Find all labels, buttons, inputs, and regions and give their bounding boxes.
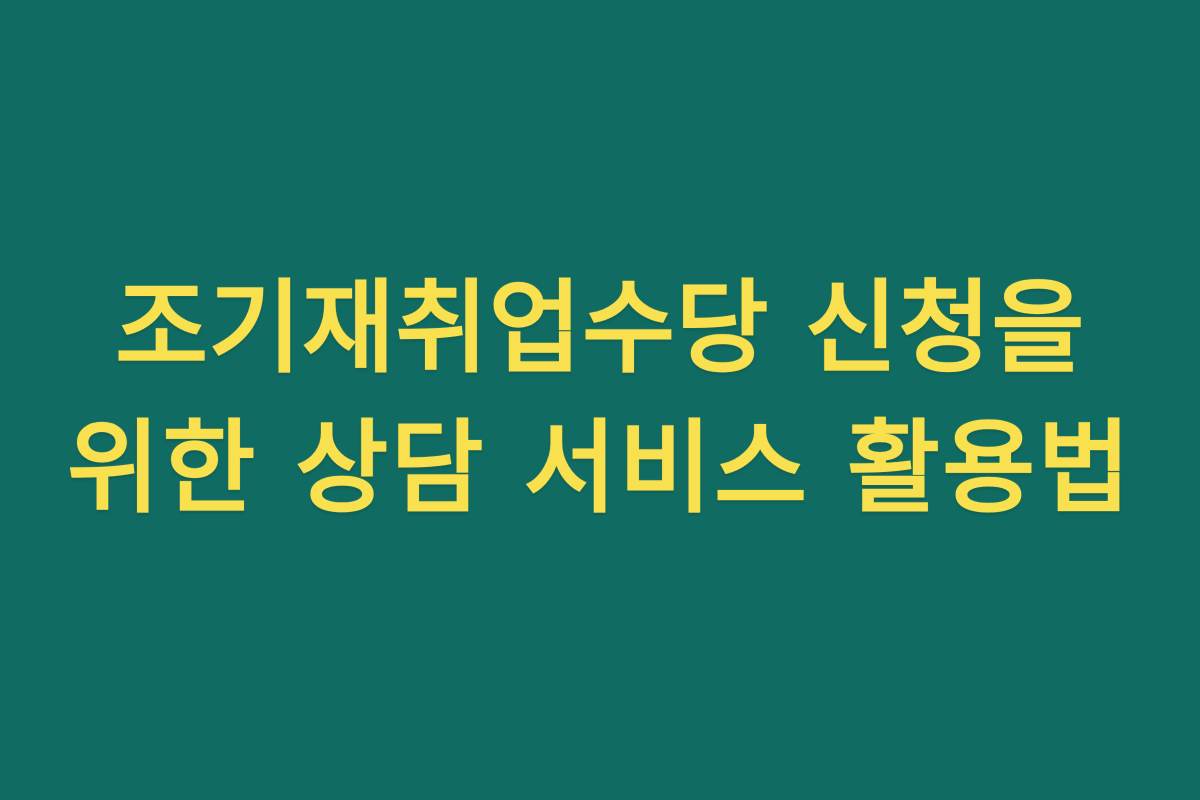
headline-line-1: 조기재취업수당 신청을: [0, 258, 1200, 398]
banner-canvas: 조기재취업수당 신청을 위한 상담 서비스 활용법: [0, 0, 1200, 800]
headline-line-2: 위한 상담 서비스 활용법: [0, 398, 1200, 538]
page-title: 조기재취업수당 신청을 위한 상담 서비스 활용법: [0, 258, 1200, 538]
